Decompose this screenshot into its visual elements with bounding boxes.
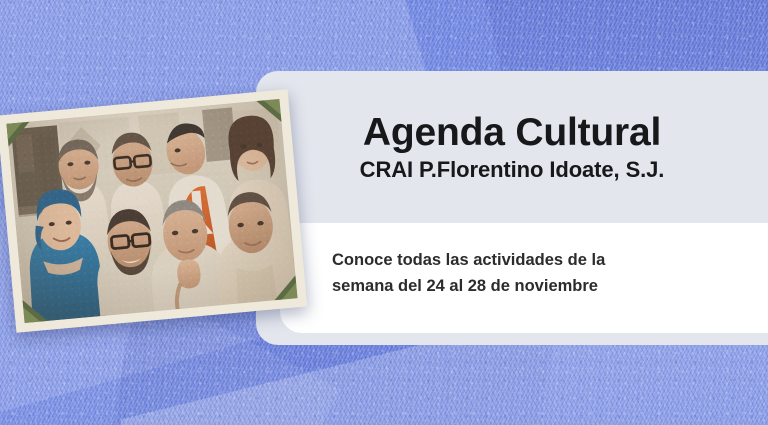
poster-canvas: Agenda Cultural CRAI P.Florentino Idoate… — [0, 0, 768, 425]
page-subtitle: CRAI P.Florentino Idoate, S.J. — [360, 157, 665, 183]
photo-corner-icon — [20, 296, 49, 323]
page-title: Agenda Cultural — [363, 111, 661, 155]
vintage-group-photo — [0, 89, 307, 333]
photo-image — [7, 99, 298, 323]
photo-frame — [7, 99, 298, 323]
photo-corner-icon — [7, 120, 34, 149]
photo-corner-icon — [254, 99, 283, 126]
body-line-1: Conoce todas las actividades de la — [332, 248, 732, 274]
photo-corner-icon — [270, 273, 297, 302]
header-block: Agenda Cultural CRAI P.Florentino Idoate… — [256, 71, 768, 223]
body-line-2: semana del 24 al 28 de noviembre — [332, 274, 732, 300]
body-block: Conoce todas las actividades de la seman… — [332, 248, 732, 299]
